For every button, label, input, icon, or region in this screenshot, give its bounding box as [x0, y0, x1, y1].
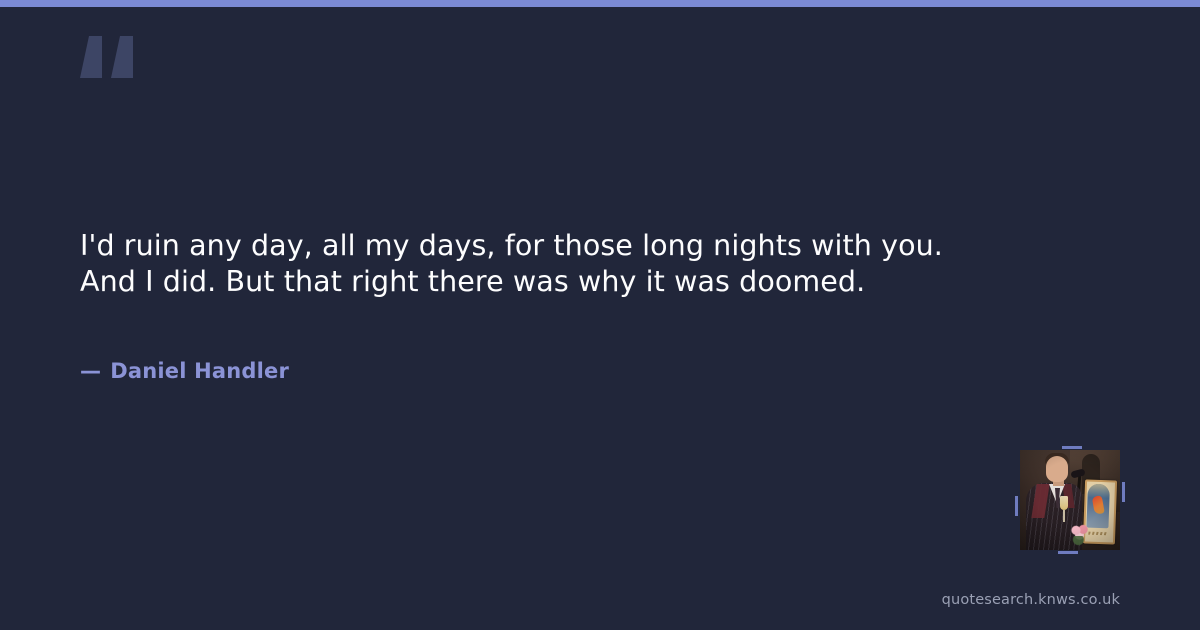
marker-bottom-icon [1058, 551, 1078, 554]
quote-bar-left [80, 36, 102, 78]
marker-top-icon [1062, 446, 1082, 449]
author-name: Daniel Handler [110, 359, 289, 383]
quote-text: I'd ruin any day, all my days, for those… [80, 228, 1000, 300]
quote-bar-right [111, 36, 133, 78]
open-quote-icon [80, 36, 136, 78]
photo-head [1046, 456, 1068, 482]
photo-artwork-caption [1088, 532, 1107, 536]
author-photo-wrapper[interactable] [1020, 450, 1120, 550]
quote-card: I'd ruin any day, all my days, for those… [0, 0, 1200, 630]
quote-author: —Daniel Handler [80, 357, 289, 385]
photo-champagne-glass [1060, 496, 1068, 510]
source-url[interactable]: quotesearch.knws.co.uk [942, 590, 1120, 610]
photo-glass-stem [1063, 510, 1065, 522]
marker-right-icon [1122, 482, 1125, 502]
marker-left-icon [1015, 496, 1018, 516]
author-photo [1020, 450, 1120, 550]
photo-foliage [1072, 536, 1088, 548]
top-accent-bar [0, 0, 1200, 7]
author-dash: — [80, 359, 101, 383]
photo-artwork-image [1086, 484, 1110, 529]
